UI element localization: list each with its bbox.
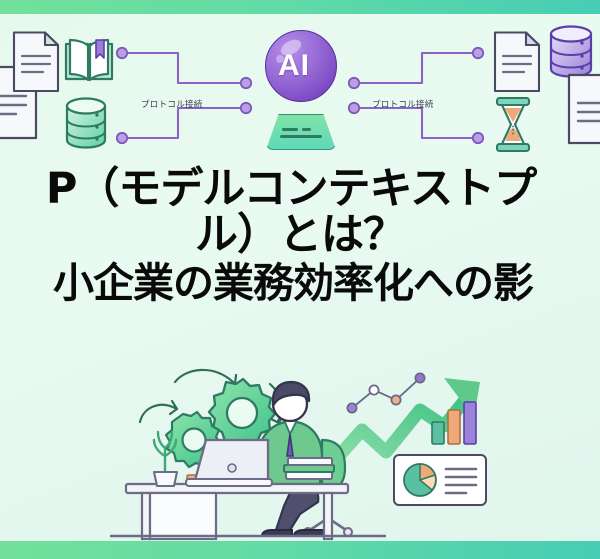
ai-orb-label: AI	[258, 30, 330, 102]
orb-base	[266, 114, 336, 150]
top-accent-bar	[0, 0, 600, 14]
hourglass-icon	[492, 96, 534, 154]
page-title: P（モデルコンテキストプ ル）とは？ 小企業の業務効率化への影	[0, 168, 600, 305]
businessman-head	[273, 382, 309, 421]
hero-image: プロトコル接続 プロトコル接続	[0, 0, 600, 559]
title-line-1: P（モデルコンテキストプ	[0, 168, 600, 212]
orb-base-line	[280, 135, 322, 138]
ai-orb: AI	[258, 30, 344, 150]
connector-label-left: プロトコル接続	[141, 98, 203, 110]
orb-base-line	[282, 128, 298, 131]
database-icon	[64, 96, 108, 150]
business-productivity-illustration	[0, 360, 600, 541]
document-icon	[566, 72, 600, 146]
orb-base-line	[302, 128, 311, 131]
protocol-diagram: プロトコル接続 プロトコル接続	[0, 14, 600, 169]
connector-label-right: プロトコル接続	[372, 98, 434, 110]
bottom-accent-bar	[0, 541, 600, 559]
document-icon	[11, 30, 61, 94]
pie-chart-card	[394, 455, 486, 505]
line-chart-nodes	[347, 373, 424, 412]
document-icon	[492, 30, 542, 94]
open-book-icon	[64, 36, 114, 84]
title-line-2: ル）とは？	[0, 214, 600, 258]
stacked-books	[284, 458, 334, 479]
title-line-3: 小企業の業務効率化への影	[0, 263, 600, 305]
